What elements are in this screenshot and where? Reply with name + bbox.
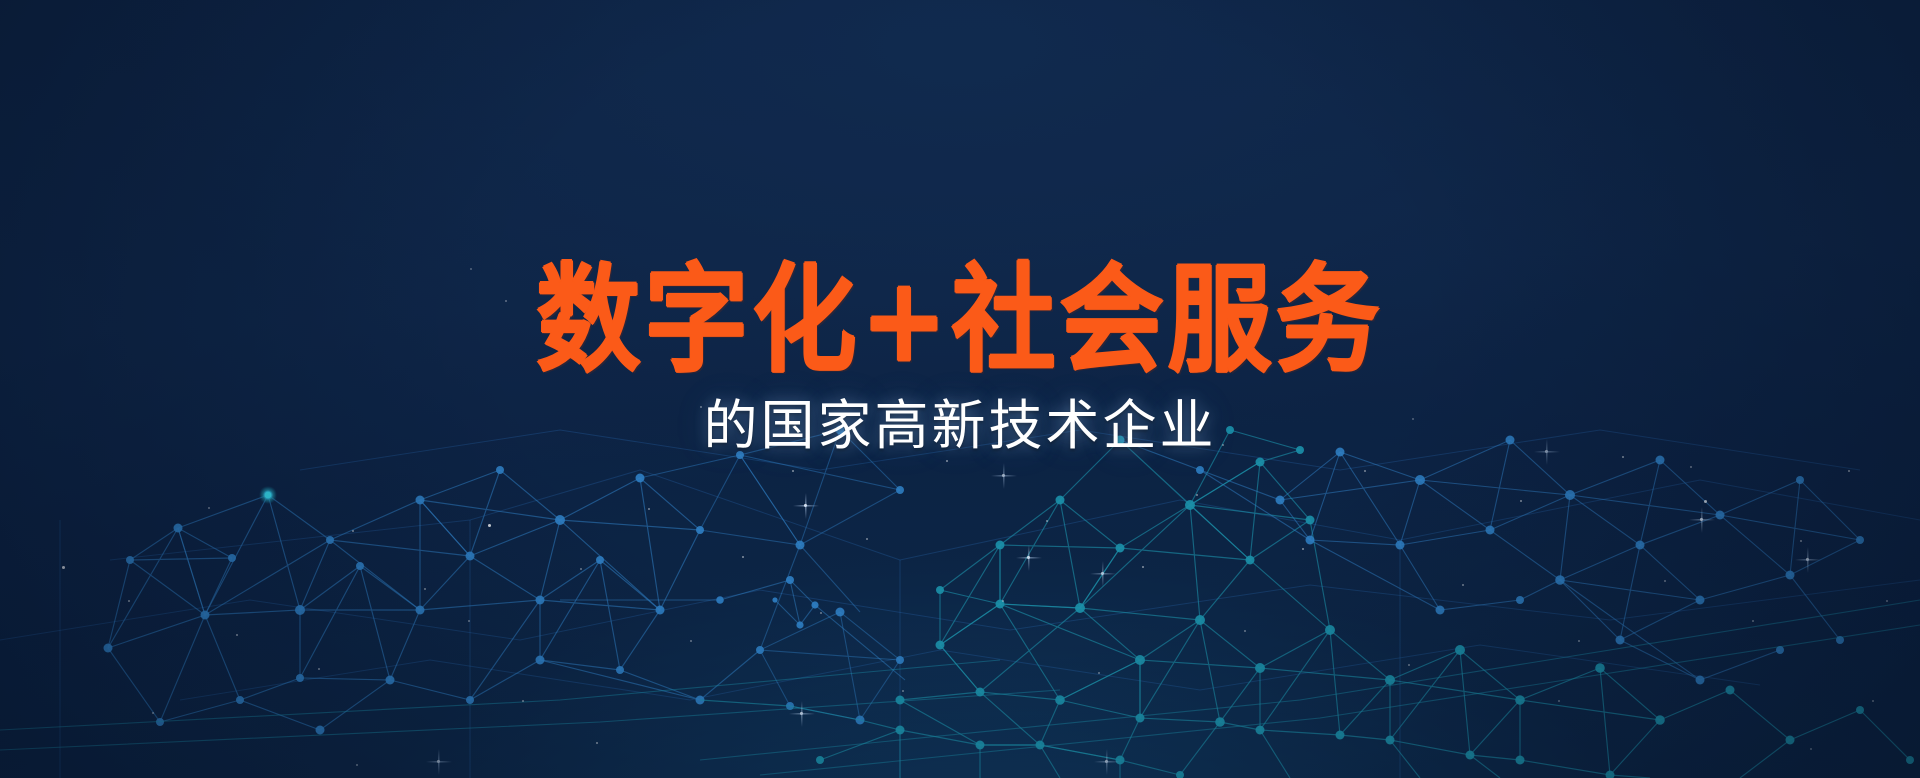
page-title: 数字化+社会服务 <box>536 262 1383 378</box>
headline-block: 数字化+社会服务 的国家高新技术企业 <box>0 268 1920 455</box>
hero-banner: 数字化+社会服务 的国家高新技术企业 <box>0 0 1920 778</box>
page-subtitle: 的国家高新技术企业 <box>0 398 1920 455</box>
